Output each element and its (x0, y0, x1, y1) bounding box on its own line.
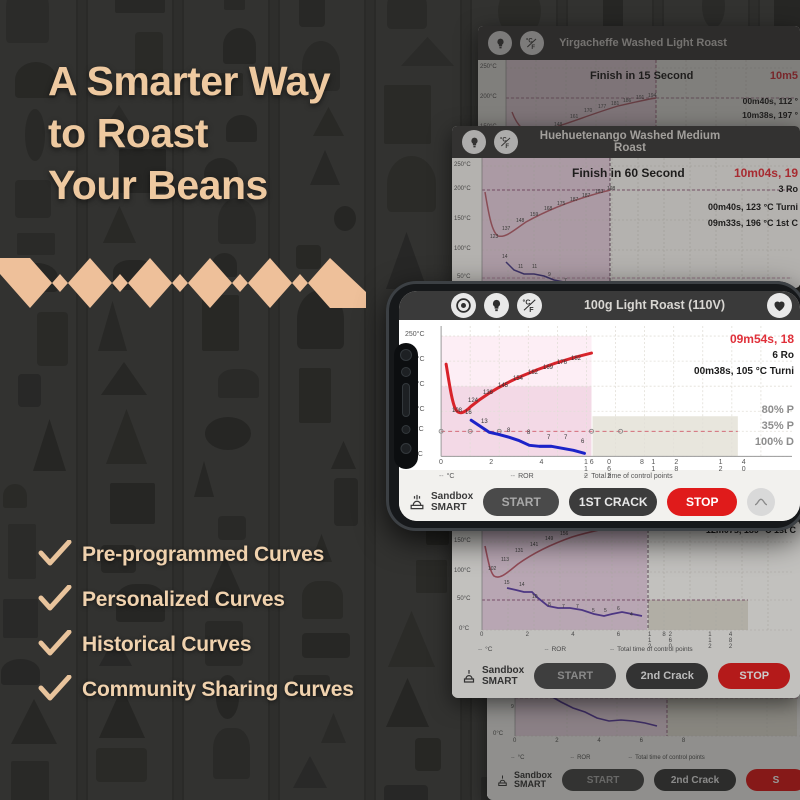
brand-line-2: SMART (482, 676, 524, 687)
hieroglyph-glyph (387, 0, 427, 29)
stop-button[interactable]: STOP (667, 488, 737, 516)
list-item: Personalized Curves (38, 585, 458, 615)
hieroglyph-glyph (15, 180, 51, 218)
start-button[interactable]: START (483, 488, 559, 516)
hieroglyph-glyph (18, 374, 41, 407)
celsius-fahrenheit-icon[interactable]: °CF (517, 293, 542, 318)
screen-title: Huehuetenango Washed Medium Roast (526, 130, 734, 154)
svg-text:F: F (529, 306, 534, 314)
hieroglyph-glyph (101, 362, 147, 395)
hieroglyph-glyph (110, 483, 155, 524)
legend-label-ror: ROR (518, 473, 534, 480)
hieroglyph-glyph (224, 0, 245, 10)
roast-screen-second[interactable]: °CF Huehuetenango Washed Medium Roast (452, 126, 800, 288)
screen-title: 100g Light Roast (110V) (550, 298, 759, 312)
control-bar-main: Sandbox SMART START 1ST CRACK STOP (399, 484, 800, 521)
bulb-icon[interactable] (488, 31, 512, 55)
hieroglyph-glyph (103, 206, 136, 243)
headline-line-3: Your Beans (48, 159, 408, 211)
legend-label-total: Total time of control points (617, 646, 693, 653)
first-crack-button[interactable]: 1ST CRACK (569, 488, 657, 516)
hieroglyph-glyph (213, 728, 250, 779)
hieroglyph-glyph (401, 37, 454, 66)
brand-name: Sandbox SMART (431, 491, 473, 513)
hieroglyph-glyph (96, 748, 147, 782)
headline-line-1: A Smarter Way (48, 55, 408, 107)
legend-label-temp: °C (518, 755, 525, 761)
roast-chart-main (399, 320, 800, 470)
brand-line-1: Sandbox (482, 665, 524, 676)
sandbox-smart-logo-icon (495, 773, 510, 788)
second-crack-button[interactable]: 2nd Crack (654, 769, 736, 791)
hieroglyph-glyph (415, 738, 441, 771)
start-button[interactable]: START (562, 769, 644, 791)
camera-dot-2 (401, 443, 412, 454)
legend-dash-ror: - - (570, 755, 573, 761)
legend-label-temp: °C (447, 473, 455, 480)
brand-name: Sandbox SMART (482, 665, 524, 687)
hieroglyph-glyph (205, 417, 251, 450)
hieroglyph-glyph (106, 409, 147, 464)
hieroglyph-glyph (218, 516, 246, 540)
hieroglyph-glyph (115, 0, 165, 13)
screen-title: Yirgacheffe Washed Light Roast (552, 37, 734, 49)
stop-button[interactable]: S (746, 769, 800, 791)
hieroglyph-glyph (6, 0, 49, 43)
legend-label-ror: ROR (552, 646, 566, 653)
check-icon (38, 540, 72, 570)
hieroglyph-glyph (3, 484, 27, 508)
chart-legend: - - °C - - ROR - - Total time of control… (487, 752, 800, 764)
hieroglyph-glyph (293, 756, 327, 788)
feature-label: Historical Curves (82, 633, 251, 657)
page-title: A Smarter Way to Roast Your Beans (48, 55, 408, 211)
brand-line-2: SMART (514, 780, 552, 789)
brand-logo: Sandbox SMART (495, 771, 552, 789)
feature-list: Pre-programmed Curves Personalized Curve… (38, 540, 458, 720)
feature-label: Pre-programmed Curves (82, 543, 324, 567)
check-icon (38, 630, 72, 660)
heart-icon[interactable] (767, 293, 792, 318)
second-crack-button[interactable]: 2nd Crack (626, 663, 708, 689)
legend-label-total: Total time of control points (635, 755, 705, 761)
brand-logo: Sandbox SMART (407, 491, 473, 513)
brand-line-2: SMART (431, 502, 473, 513)
hieroglyph-glyph (3, 599, 38, 638)
legend-label-total: Total time of control points (591, 473, 672, 480)
hieroglyph-glyph (98, 301, 127, 351)
roast-chart-fourth (452, 520, 800, 642)
legend-dash-temp: - - (439, 473, 443, 480)
check-icon (38, 585, 72, 615)
legend-label-temp: °C (485, 646, 492, 653)
speaker-slot (402, 383, 410, 417)
roast-screen-fourth[interactable]: 150°C 100°C 50°C 0°C 0 2 4 6 8 12 14 16 … (452, 520, 800, 698)
hieroglyph-glyph (25, 109, 45, 161)
roast-chart-fifth (487, 690, 800, 752)
zigzag-divider (0, 252, 366, 308)
sensor-dot-2 (402, 425, 411, 434)
svg-text:F: F (505, 144, 509, 150)
legend-label-ror: ROR (577, 755, 590, 761)
hieroglyph-glyph (1, 659, 40, 685)
hieroglyph-glyph (334, 478, 358, 526)
legend-dash-total: - - (584, 473, 588, 480)
sandbox-smart-logo-icon (460, 667, 478, 685)
sandbox-smart-logo-icon (407, 492, 427, 512)
list-item: Historical Curves (38, 630, 458, 660)
stop-button[interactable]: STOP (718, 663, 790, 689)
phone-device: °CF 100g Light Roast (110V) (386, 281, 800, 531)
list-item: Community Sharing Curves (38, 675, 458, 705)
control-bar-fourth: Sandbox SMART START 2nd Crack STOP (452, 656, 800, 696)
svg-text:°C: °C (526, 38, 533, 44)
hieroglyph-glyph (33, 419, 66, 471)
roast-chart-second (452, 158, 800, 288)
start-button[interactable]: START (534, 663, 616, 689)
hieroglyph-glyph (299, 0, 325, 27)
check-icon (38, 675, 72, 705)
roast-screen-top[interactable]: °CF Yirgacheffe Washed Light Roast 250°C… (478, 26, 800, 138)
legend-dash-temp: - - (511, 755, 514, 761)
legend-dash-temp: - - (478, 646, 481, 653)
list-item: Pre-programmed Curves (38, 540, 458, 570)
brand-logo: Sandbox SMART (460, 665, 524, 687)
chart-legend: - - °C - - ROR - - Total time of control… (452, 642, 800, 656)
hieroglyph-glyph (194, 461, 214, 497)
hieroglyph-glyph (11, 761, 49, 800)
brand-name: Sandbox SMART (514, 771, 552, 789)
headline-line-2: to Roast (48, 107, 408, 159)
roast-screen-fifth[interactable]: 50°C 0°C 0 2 4 6 8 9 - - °C - - ROR - - … (487, 690, 800, 800)
bulb-icon[interactable] (462, 130, 486, 154)
hieroglyph-glyph (8, 524, 36, 579)
svg-text:F: F (531, 45, 535, 51)
target-icon[interactable] (451, 293, 476, 318)
feature-label: Community Sharing Curves (82, 678, 354, 702)
hieroglyph-glyph (384, 785, 428, 800)
hieroglyph-glyph (37, 312, 68, 366)
bulb-icon[interactable] (484, 293, 509, 318)
legend-dash-ror: - - (510, 473, 514, 480)
chart-legend: - - °C - - ROR - - Total time of control… (399, 470, 800, 484)
hieroglyph-glyph (218, 369, 259, 398)
hieroglyph-glyph (331, 441, 356, 469)
celsius-fahrenheit-icon[interactable]: °CF (520, 31, 544, 55)
celsius-fahrenheit-icon[interactable]: °CF (494, 130, 518, 154)
control-bar-fifth: Sandbox SMART START 2nd Crack S (487, 764, 800, 796)
legend-dash-total: - - (610, 646, 613, 653)
brand-line-1: Sandbox (431, 491, 473, 502)
roast-curve-toggle-button[interactable] (747, 488, 775, 516)
svg-text:°C: °C (500, 137, 507, 143)
hieroglyph-glyph (299, 368, 331, 423)
roast-screen-main[interactable]: °CF 100g Light Roast (110V) (399, 291, 800, 521)
feature-label: Personalized Curves (82, 588, 285, 612)
legend-dash-ror: - - (544, 646, 547, 653)
curve-icon (753, 494, 769, 510)
phone-side-notch (394, 343, 418, 469)
camera-dot (400, 349, 412, 361)
hieroglyph-glyph (702, 0, 725, 28)
sensor-dot (401, 367, 411, 377)
legend-dash-total: - - (628, 755, 631, 761)
